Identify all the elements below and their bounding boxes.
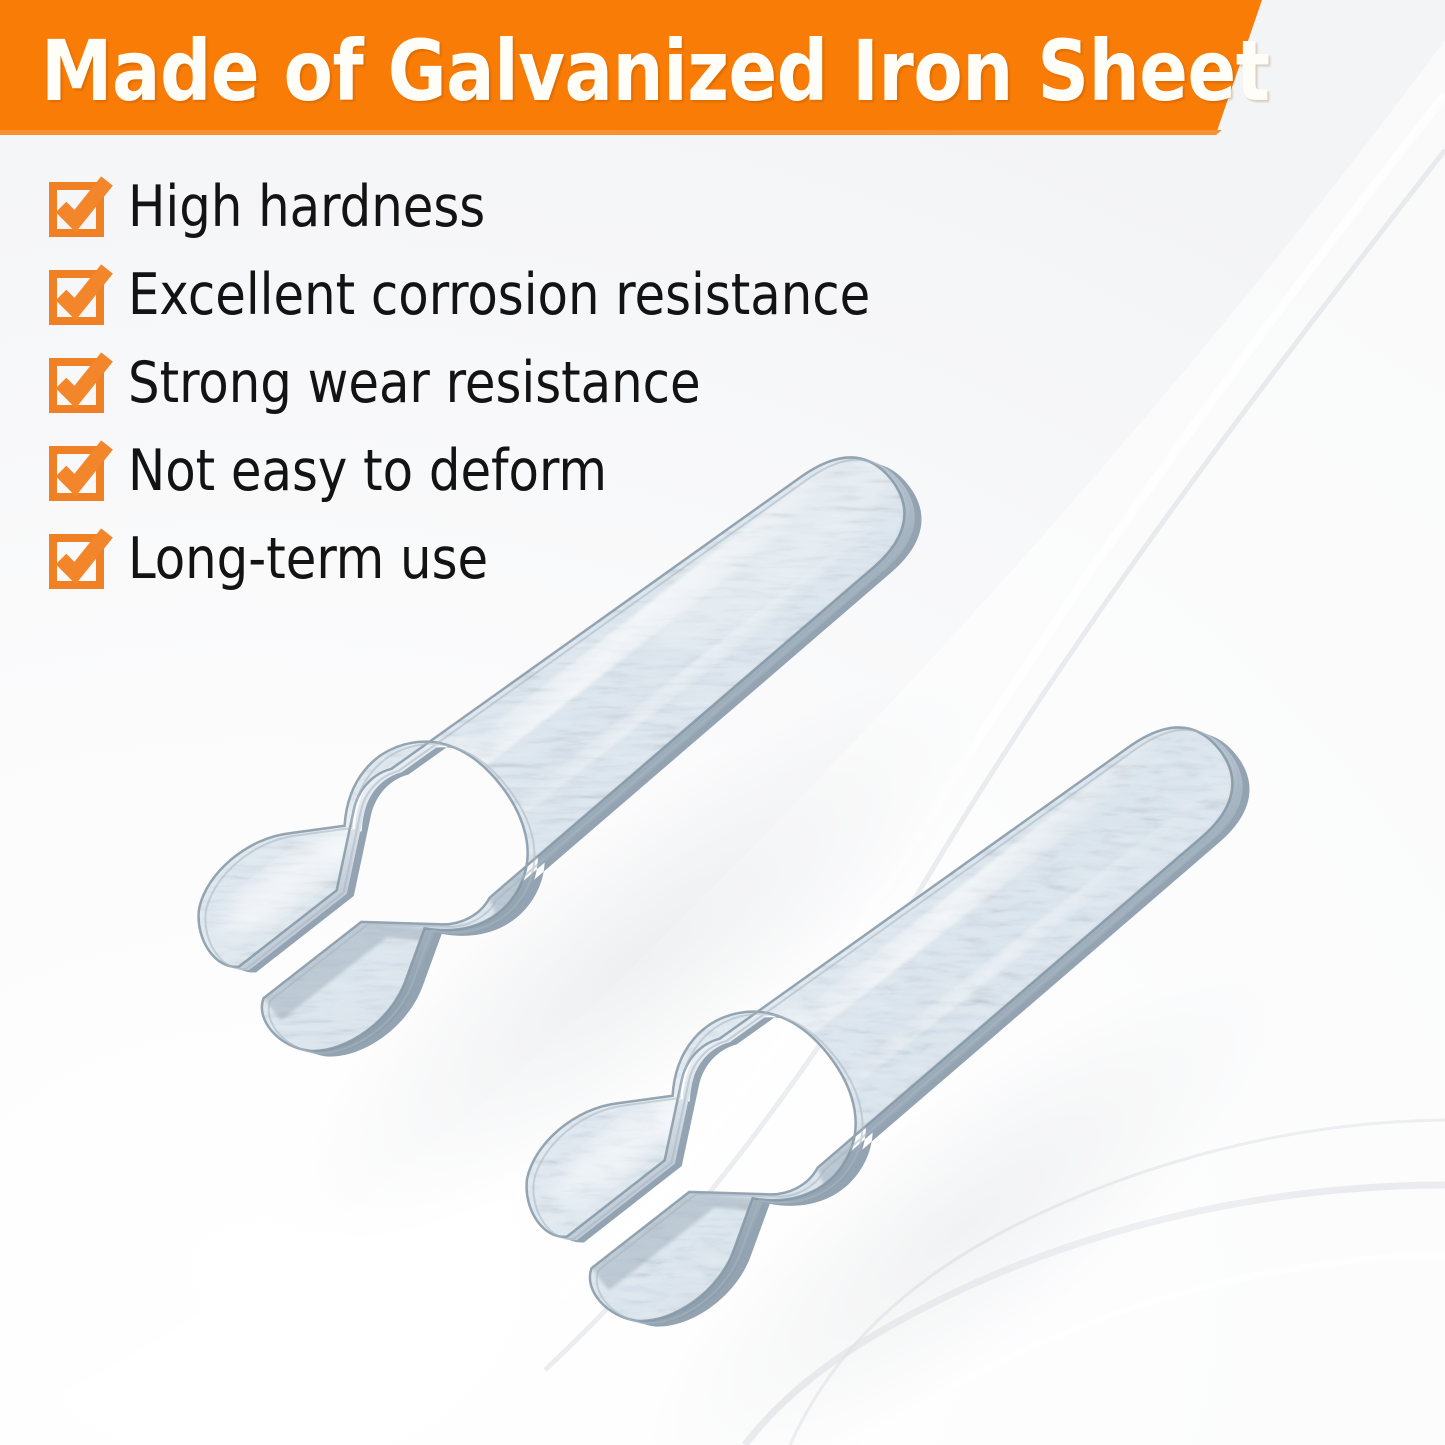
header-banner-underline xyxy=(0,130,1222,135)
checkbox-checked-icon xyxy=(48,352,110,414)
feature-item: Excellent corrosion resistance xyxy=(0,251,893,339)
feature-label: Excellent corrosion resistance xyxy=(128,264,870,326)
product-feature-image: Made of Galvanized Iron Sheet High hardn… xyxy=(0,0,1445,1445)
checkbox-checked-icon xyxy=(48,440,110,502)
feature-label: Strong wear resistance xyxy=(128,352,701,414)
feature-item: High hardness xyxy=(0,163,893,251)
feature-label: Not easy to deform xyxy=(128,440,607,502)
feature-item: Not easy to deform xyxy=(0,427,893,515)
page-title: Made of Galvanized Iron Sheet xyxy=(41,25,1270,117)
checkbox-checked-icon xyxy=(48,176,110,238)
feature-label: High hardness xyxy=(128,176,485,238)
feature-item: Strong wear resistance xyxy=(0,339,893,427)
checkbox-checked-icon xyxy=(48,528,110,590)
feature-list: High hardness Excellent corrosion resist… xyxy=(0,163,893,603)
checkbox-checked-icon xyxy=(48,264,110,326)
feature-label: Long-term use xyxy=(128,528,488,590)
feature-item: Long-term use xyxy=(0,515,893,603)
